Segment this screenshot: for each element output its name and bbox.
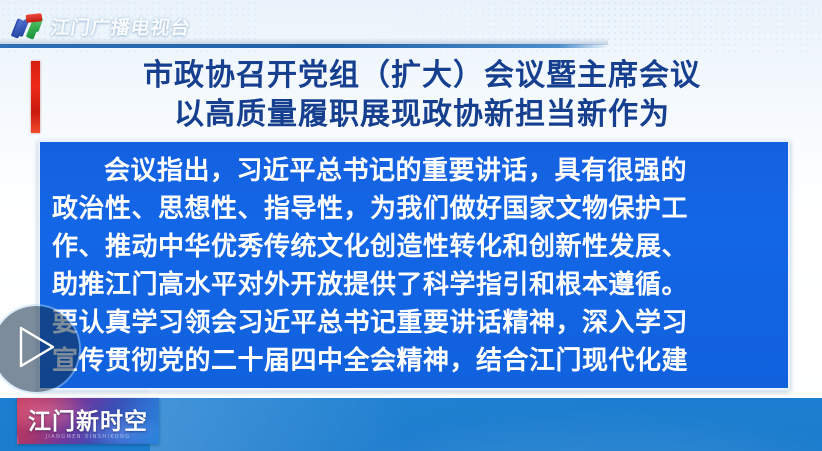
caption-line: 要认真学习领会习近平总书记重要讲话精神，深入学习	[52, 304, 776, 342]
program-badge-subtitle: JIANGMEN XINSHIKONG	[17, 434, 159, 440]
headline-line-2: 以高质量履职展现政协新担当新作为	[53, 95, 791, 134]
pinwheel-logo-icon	[12, 12, 46, 40]
headline-block: 市政协召开党组（扩大）会议暨主席会议 以高质量履职展现政协新担当新作为	[31, 56, 791, 136]
caption-line: 作、推动中华优秀传统文化创造性转化和创新性发展、	[52, 228, 776, 266]
panel-base-shadow	[38, 388, 790, 394]
caption-line: 宣传贯彻党的二十届四中全会精神，结合江门现代化建	[52, 342, 776, 380]
caption-text: 会议指出，习近平总书记的重要讲话，具有很强的 政治性、思想性、指导性，为我们做好…	[52, 152, 776, 380]
channel-logo: 江门广播电视台	[12, 10, 192, 42]
play-triangle-icon	[15, 324, 57, 374]
channel-logo-text: 江门广播电视台	[49, 13, 193, 40]
caption-panel: 会议指出，习近平总书记的重要讲话，具有很强的 政治性、思想性、指导性，为我们做好…	[38, 140, 790, 390]
program-badge-title: 江门新时空	[28, 402, 148, 436]
headline-accent-bar	[31, 61, 40, 133]
caption-line: 助推江门高水平对外开放提供了科学指引和根本遵循。	[52, 266, 776, 304]
caption-line: 会议指出，习近平总书记的重要讲话，具有很强的	[52, 152, 776, 190]
caption-line: 政治性、思想性、指导性，为我们做好国家文物保护工	[52, 190, 776, 228]
headline-line-1: 市政协召开党组（扩大）会议暨主席会议	[53, 56, 791, 95]
program-badge: 江门新时空 JIANGMEN XINSHIKONG	[17, 398, 159, 444]
page-title: 市政协召开党组（扩大）会议暨主席会议 以高质量履职展现政协新担当新作为	[53, 56, 791, 134]
header-rule	[0, 44, 608, 48]
video-frame: 江门广播电视台 市政协召开党组（扩大）会议暨主席会议 以高质量履职展现政协新担当…	[0, 0, 822, 451]
